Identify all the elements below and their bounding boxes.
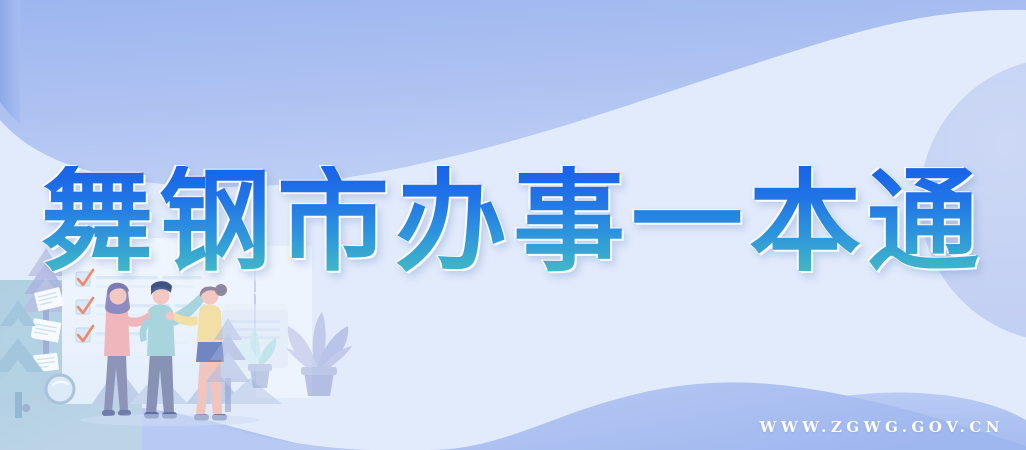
illustration-three-people-checklist (0, 0, 1026, 450)
ground-shadow (80, 414, 260, 426)
site-url-watermark: WWW.ZGWG.GOV.CN (759, 418, 1004, 436)
site-banner: 舞钢市办事一本通 WWW.ZGWG.GOV.CN (0, 0, 1026, 450)
